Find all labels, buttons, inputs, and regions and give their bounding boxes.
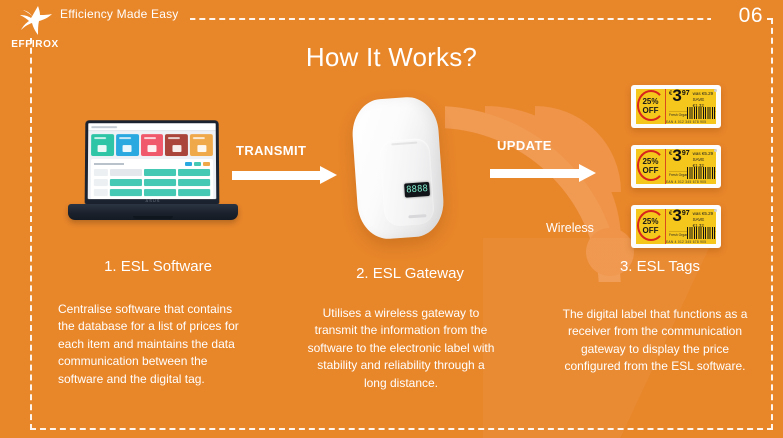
step-body-software: Centralise software that contains the da… (58, 301, 246, 388)
discount-ring-icon (637, 210, 665, 241)
stat-card (190, 134, 213, 156)
esl-tag: 25% OFF € 3 97 was €5.29 SAVE €1.32 Fres… (631, 205, 721, 248)
dashboard-table-panel (91, 159, 214, 199)
discount-ring-icon (637, 150, 665, 181)
tag-price-decimal: 97 (682, 210, 690, 217)
page-title: How It Works? (0, 42, 783, 73)
update-label: UPDATE (497, 138, 552, 153)
slide-canvas: EFFIROX Efficiency Made Easy 06 How It W… (0, 0, 783, 438)
step-heading-gateway: 2. ESL Gateway (300, 265, 520, 282)
tag-price-block: € 3 97 was €5.29 SAVE €1.32 Fresh Organi… (666, 209, 716, 244)
stat-card (91, 134, 114, 156)
gateway-display-value: 8888 (406, 184, 428, 194)
tag-price-block: € 3 97 was €5.29 SAVE €1.32 Fresh Organi… (666, 89, 716, 124)
laptop-screen (88, 123, 217, 199)
tag-footer-code: EAN 4 012 345 678 905 (666, 120, 706, 124)
tag-price-label: 25% OFF € 3 97 was €5.29 SAVE €1.32 Fres… (636, 89, 716, 124)
tag-price-block: € 3 97 was €5.29 SAVE €1.32 Fresh Organi… (666, 149, 716, 184)
step-body-tags: The digital label that functions as a re… (556, 306, 754, 376)
discount-ring-icon (637, 90, 665, 121)
step-body-gateway: Utilises a wireless gateway to transmit … (305, 305, 497, 392)
tag-price-decimal: 97 (682, 90, 690, 97)
tag-footer-code: EAN 4 012 345 678 905 (666, 180, 706, 184)
page-number: 06 (739, 4, 763, 28)
tag-price-decimal: 97 (682, 150, 690, 157)
stat-card (165, 134, 188, 156)
laptop-base: ASUS (68, 204, 238, 220)
tag-discount-badge: 25% OFF (636, 209, 666, 244)
dashboard-title-placeholder (91, 126, 117, 128)
stat-card (141, 134, 164, 156)
tag-price-integer: 3 (672, 89, 681, 103)
step-heading-software: 1. ESL Software (48, 258, 268, 275)
tagline: Efficiency Made Easy (60, 7, 179, 21)
tag-footer-code: EAN 4 012 345 678 905 (666, 240, 706, 244)
tag-price-label: 25% OFF € 3 97 was €5.29 SAVE €1.32 Fres… (636, 209, 716, 244)
effirox-bird-icon (15, 4, 55, 38)
transmit-arrow (232, 166, 337, 184)
table-rows (94, 169, 211, 199)
laptop-brand: ASUS (146, 198, 161, 203)
esl-tag: 25% OFF € 3 97 was €5.29 SAVE €1.32 Fres… (631, 85, 721, 128)
tag-barcode (687, 227, 715, 239)
tag-price-label: 25% OFF € 3 97 was €5.29 SAVE €1.32 Fres… (636, 149, 716, 184)
transmit-label: TRANSMIT (236, 143, 306, 158)
stat-card (116, 134, 139, 156)
tag-price-integer: 3 (672, 209, 681, 223)
tag-price-integer: 3 (672, 149, 681, 163)
tag-barcode (687, 167, 715, 179)
tag-discount-badge: 25% OFF (636, 149, 666, 184)
esl-software-laptop: ASUS (68, 120, 238, 232)
table-header (94, 162, 210, 166)
gateway-display: 8888 (404, 182, 430, 198)
tag-barcode (687, 107, 715, 119)
update-arrow (490, 164, 596, 182)
tag-discount-badge: 25% OFF (636, 89, 666, 124)
wireless-label: Wireless (546, 221, 594, 235)
esl-gateway-device: 8888 (350, 95, 446, 241)
dashboard-topbar (88, 123, 216, 131)
dashboard-stat-cards (88, 131, 216, 158)
esl-tag: 25% OFF € 3 97 was €5.29 SAVE €1.32 Fres… (631, 145, 721, 188)
laptop-lid (85, 120, 220, 204)
step-heading-tags: 3. ESL Tags (560, 258, 760, 275)
